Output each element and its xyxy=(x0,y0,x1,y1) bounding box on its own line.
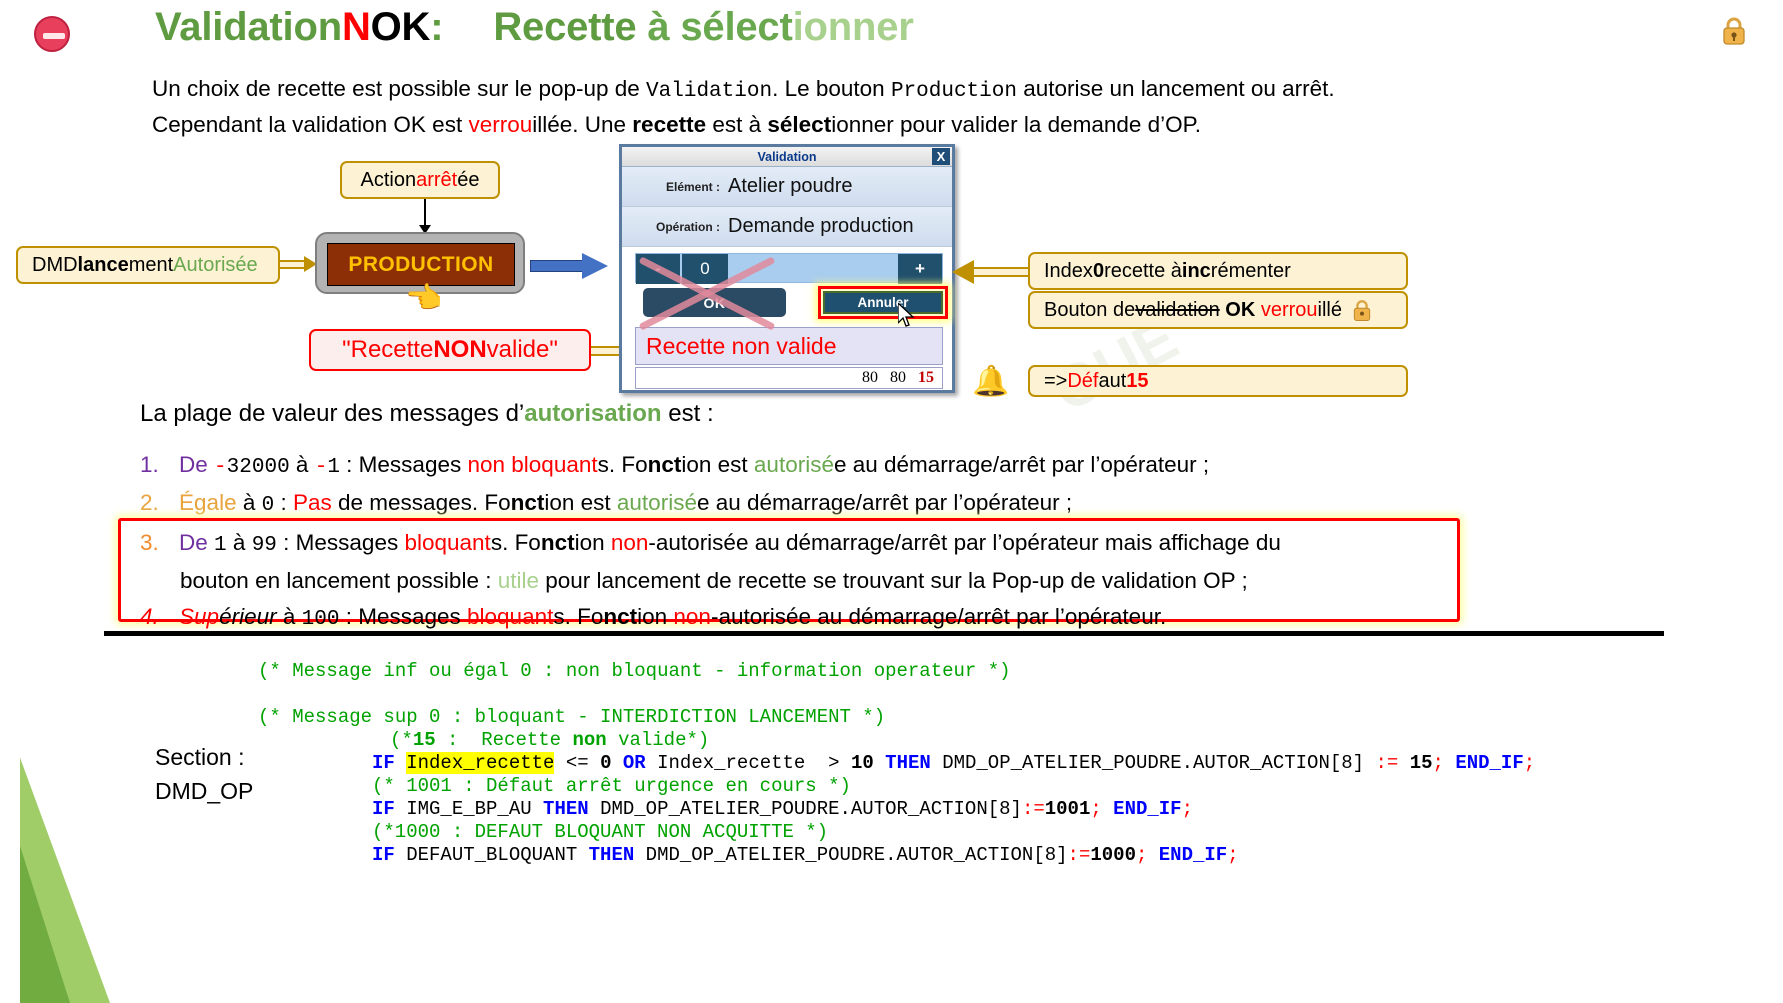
title-recette: Recette xyxy=(493,5,636,49)
callout-action-suffix: ée xyxy=(457,169,479,192)
code-statement-3: IF DEFAUT_BLOQUANT THEN DMD_OP_ATELIER_P… xyxy=(372,844,1239,866)
code-statement-2: IF IMG_E_BP_AU THEN DMD_OP_ATELIER_POUDR… xyxy=(372,798,1193,820)
list-intro-a: La plage de valeur des messages d’ xyxy=(140,400,524,427)
list-number: 4. xyxy=(140,604,159,629)
section-label-1: Section : xyxy=(155,740,253,774)
arrow-blue-to-dialog xyxy=(530,255,610,277)
dialog-value-element: Atelier poudre xyxy=(728,175,853,198)
spinner-value: 0 xyxy=(682,254,728,284)
close-icon[interactable]: X xyxy=(932,148,950,165)
no-entry-icon xyxy=(34,16,70,52)
status-value-2: 80 xyxy=(890,369,906,387)
dialog-message: Recette non valide xyxy=(635,327,943,365)
left-margin xyxy=(0,0,20,1003)
list-intro-green: autorisation xyxy=(524,400,661,427)
callout-action-red: arrêt xyxy=(416,169,457,192)
callout-defaut-15: => Défaut 15 xyxy=(1028,365,1408,397)
list-item: 1. De -32000 à -1 : Messages non bloquan… xyxy=(140,450,1209,483)
callout-index-c: rémenter xyxy=(1211,260,1291,283)
code-comment-4: (* 1001 : Défaut arrêt urgence en cours … xyxy=(372,775,851,797)
intro-line1b: . Le bouton xyxy=(772,76,891,101)
callout-dmd-bold: lance xyxy=(78,254,129,277)
callout-index-recette: Index 0 recette à incrémenter xyxy=(1028,252,1408,290)
callout-rec-b: valide" xyxy=(487,336,558,364)
code-statement-1: IF Index_recette <= 0 OR Index_recette >… xyxy=(372,752,1535,774)
list-item: 3. De 1 à 99 : Messages bloquants. Fonct… xyxy=(140,528,1281,561)
arrow-down xyxy=(424,199,426,225)
intro-mono-production: Production xyxy=(891,80,1017,103)
dialog-value-operation: Demande production xyxy=(728,215,914,238)
list-number: 1. xyxy=(140,452,159,477)
title-colon: : xyxy=(430,5,443,49)
callout-rec-a: "Recette xyxy=(342,336,433,364)
list-item-continuation: bouton en lancement possible : utile pou… xyxy=(180,566,1248,596)
intro-line1c: autorise un lancement ou arrêt. xyxy=(1017,76,1335,101)
mouse-cursor-icon xyxy=(898,303,916,329)
intro-line1a: Un choix de recette est possible sur le … xyxy=(152,76,646,101)
intro-line2a: Cependant la validation OK est xyxy=(152,112,468,137)
title-ok: OK xyxy=(371,5,431,49)
code-comment-1: (* Message inf ou égal 0 : non bloquant … xyxy=(258,660,1011,682)
arrow-gold-right xyxy=(280,256,316,272)
callout-defaut-arrow: => xyxy=(1044,370,1067,393)
bell-icon: 🔔 xyxy=(972,364,1009,399)
dialog-title-text: Validation xyxy=(757,150,816,164)
intro-line2b: illée. Une xyxy=(532,112,632,137)
code-comment-3: (*15 : Recette non valide*) xyxy=(390,729,709,751)
intro-recette-bold: recette xyxy=(632,112,706,137)
page-header: ValidationNOK:Recette à sélectionner xyxy=(0,0,1783,68)
callout-rec-bold: NON xyxy=(433,336,486,364)
horizontal-rule xyxy=(104,631,1664,636)
section-label: Section : DMD_OP xyxy=(155,740,253,808)
dialog-row-operation: Opération : Demande production xyxy=(622,207,952,247)
callout-index-zero: 0 xyxy=(1093,260,1104,283)
title-ionner: ionner xyxy=(793,5,914,49)
pointing-hand-icon: 👈 xyxy=(405,281,442,316)
callout-bouton-strike: validation xyxy=(1135,299,1220,322)
dialog-titlebar: Validation X xyxy=(622,147,952,167)
callout-recette-non-valide: "Recette NON valide" xyxy=(309,329,591,371)
title-select: sélect xyxy=(680,5,792,49)
arrow-gold-left xyxy=(952,262,1030,282)
section-label-2: DMD_OP xyxy=(155,774,253,808)
lock-icon xyxy=(1352,299,1372,322)
callout-bouton-b: illé xyxy=(1318,299,1342,322)
cancel-button[interactable]: Annuler xyxy=(823,291,943,314)
callout-defaut-b: aut xyxy=(1098,370,1126,393)
production-button[interactable]: PRODUCTION xyxy=(327,243,515,286)
list-item: 2. Égale à 0 : Pas de messages. Fonction… xyxy=(140,488,1072,521)
intro-select-bold: sélect xyxy=(767,112,831,137)
callout-action-arretee: Action arrêtée xyxy=(340,161,500,199)
intro-line2d: ionner pour valider la demande d’OP. xyxy=(831,112,1201,137)
title-a: à xyxy=(647,5,669,49)
page-title: ValidationNOK:Recette à sélectionner xyxy=(155,5,914,50)
code-comment-2: (* Message sup 0 : bloquant - INTERDICTI… xyxy=(258,706,885,728)
list-number: 3. xyxy=(140,530,159,555)
corner-decoration xyxy=(0,583,150,1003)
validation-dialog: Validation X Elément : Atelier poudre Op… xyxy=(619,144,955,393)
callout-index-bold: inc xyxy=(1182,260,1211,283)
callout-dmd-green: Autorisée xyxy=(173,254,258,277)
ok-button[interactable]: OK xyxy=(643,288,786,317)
recipe-index-spinner[interactable]: - 0 + xyxy=(635,253,943,283)
callout-bouton-validation: Bouton de validation OK verrouillé xyxy=(1028,291,1408,329)
status-value-3: 15 xyxy=(918,369,934,387)
callout-index-a: Index xyxy=(1044,260,1093,283)
code-comment-5: (*1000 : DEFAUT BLOQUANT NON ACQUITTE *) xyxy=(372,821,828,843)
spinner-increment-button[interactable]: + xyxy=(898,254,942,284)
intro-line2c: est à xyxy=(706,112,767,137)
callout-defaut-red: Déf xyxy=(1067,370,1098,393)
title-n: N xyxy=(342,5,371,49)
callout-action-text: Action xyxy=(361,169,417,192)
callout-dmd-lancement: DMD lancement Autorisée xyxy=(16,246,280,284)
lock-icon xyxy=(1721,16,1747,46)
intro-paragraph: Un choix de recette est possible sur le … xyxy=(152,72,1752,141)
callout-bouton-a: Bouton de xyxy=(1044,299,1135,322)
title-validation: Validation xyxy=(155,5,342,49)
callout-bouton-verrou: verrou xyxy=(1261,299,1318,322)
callout-bouton-ok: OK xyxy=(1225,299,1255,322)
dialog-row-element: Elément : Atelier poudre xyxy=(622,167,952,207)
intro-mono-validation: Validation xyxy=(646,80,772,103)
list-intro-b: est : xyxy=(662,400,714,427)
status-value-1: 80 xyxy=(862,369,878,387)
dialog-label-element: Elément : xyxy=(622,180,728,194)
callout-defaut-num: 15 xyxy=(1126,370,1148,393)
cancel-button-highlight: Annuler xyxy=(818,286,948,319)
list-intro: La plage de valeur des messages d’autori… xyxy=(140,400,714,428)
dialog-label-operation: Opération : xyxy=(622,220,728,234)
dialog-statusbar: 80 80 15 xyxy=(635,367,943,389)
callout-index-b: recette à xyxy=(1104,260,1182,283)
list-number: 2. xyxy=(140,490,159,515)
callout-dmd-a: DMD xyxy=(32,254,78,277)
callout-dmd-b: ment xyxy=(129,254,173,277)
intro-verrou: verrou xyxy=(468,112,532,137)
spinner-decrement-button[interactable]: - xyxy=(636,254,680,284)
